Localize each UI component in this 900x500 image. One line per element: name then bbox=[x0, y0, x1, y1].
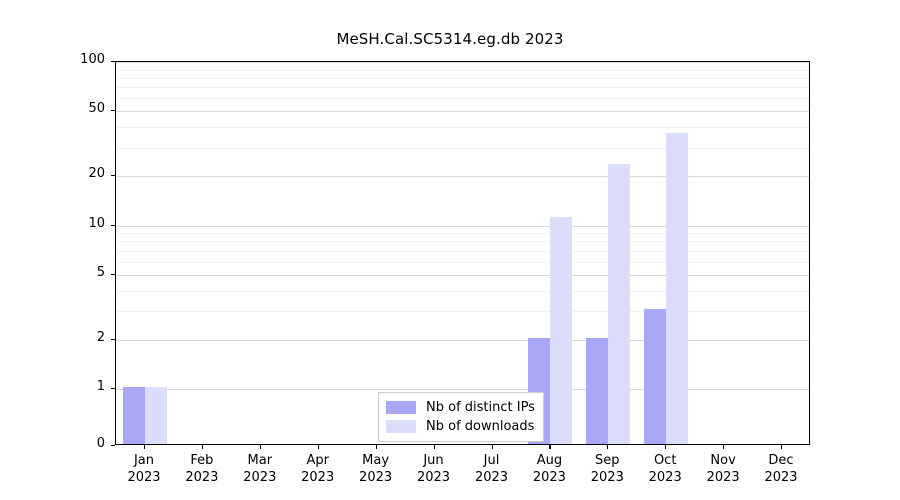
x-axis-tick-mark bbox=[434, 445, 435, 449]
y-axis-tick-label: 5 bbox=[35, 265, 105, 280]
legend-item-downloads: Nb of downloads bbox=[386, 417, 535, 436]
gridline-major bbox=[116, 389, 809, 390]
legend-item-distinct-ips: Nb of distinct IPs bbox=[386, 398, 535, 417]
y-axis-tick-label: 100 bbox=[35, 52, 105, 67]
x-axis-tick-mark bbox=[144, 445, 145, 449]
y-axis-tick-label: 0 bbox=[35, 436, 105, 451]
gridline-minor bbox=[116, 87, 809, 88]
chart-title: MeSH.Cal.SC5314.eg.db 2023 bbox=[0, 30, 900, 48]
x-axis-tick-mark bbox=[376, 445, 377, 449]
bar-downloads bbox=[145, 387, 167, 444]
y-axis-tick-label: 1 bbox=[35, 379, 105, 394]
gridline-major bbox=[116, 176, 809, 177]
gridline-major bbox=[116, 226, 809, 227]
gridline-minor bbox=[116, 70, 809, 71]
gridline-minor bbox=[116, 311, 809, 312]
x-axis-tick-mark bbox=[549, 445, 550, 449]
gridline-minor bbox=[116, 291, 809, 292]
bar-downloads bbox=[550, 217, 572, 444]
gridline-minor bbox=[116, 78, 809, 79]
x-axis-tick-mark bbox=[202, 445, 203, 449]
x-axis-tick-month: Dec bbox=[736, 452, 826, 469]
x-axis-tick-label: Dec2023 bbox=[736, 452, 826, 486]
y-axis-tick-labels: 0125102050100 bbox=[35, 0, 105, 500]
x-axis-tick-mark bbox=[665, 445, 666, 449]
gridline-major bbox=[116, 340, 809, 341]
y-axis-tick-label: 20 bbox=[35, 166, 105, 181]
gridline-major bbox=[116, 275, 809, 276]
y-axis-tick-mark bbox=[111, 445, 115, 446]
x-axis-tick-mark bbox=[781, 445, 782, 449]
bar-distinct-ips bbox=[123, 387, 145, 444]
bar-downloads bbox=[608, 164, 630, 444]
gridline-minor bbox=[116, 98, 809, 99]
gridline-minor bbox=[116, 127, 809, 128]
legend-label-distinct-ips: Nb of distinct IPs bbox=[426, 400, 535, 415]
x-axis-tick-mark bbox=[260, 445, 261, 449]
x-axis-tick-mark bbox=[607, 445, 608, 449]
chart-legend: Nb of distinct IPs Nb of downloads bbox=[378, 392, 544, 442]
gridline-minor bbox=[116, 241, 809, 242]
x-axis-tick-mark bbox=[492, 445, 493, 449]
x-axis-tick-year: 2023 bbox=[736, 469, 826, 486]
gridline-minor bbox=[116, 233, 809, 234]
bar-distinct-ips bbox=[586, 338, 608, 444]
y-axis-tick-label: 2 bbox=[35, 330, 105, 345]
bar-distinct-ips bbox=[644, 309, 666, 444]
x-axis-tick-mark bbox=[318, 445, 319, 449]
y-axis-tick-label: 10 bbox=[35, 216, 105, 231]
y-axis-tick-label: 50 bbox=[35, 101, 105, 116]
legend-label-downloads: Nb of downloads bbox=[426, 419, 534, 434]
plot-area bbox=[115, 61, 810, 445]
gridline-minor bbox=[116, 251, 809, 252]
legend-swatch-downloads bbox=[386, 420, 416, 433]
chart-figure: MeSH.Cal.SC5314.eg.db 2023 0125102050100… bbox=[0, 0, 900, 500]
legend-swatch-distinct-ips bbox=[386, 401, 416, 414]
gridline-minor bbox=[116, 148, 809, 149]
x-axis-tick-mark bbox=[723, 445, 724, 449]
gridline-major bbox=[116, 111, 809, 112]
gridline-minor bbox=[116, 262, 809, 263]
bar-downloads bbox=[666, 133, 688, 444]
gridline-major bbox=[116, 62, 809, 63]
